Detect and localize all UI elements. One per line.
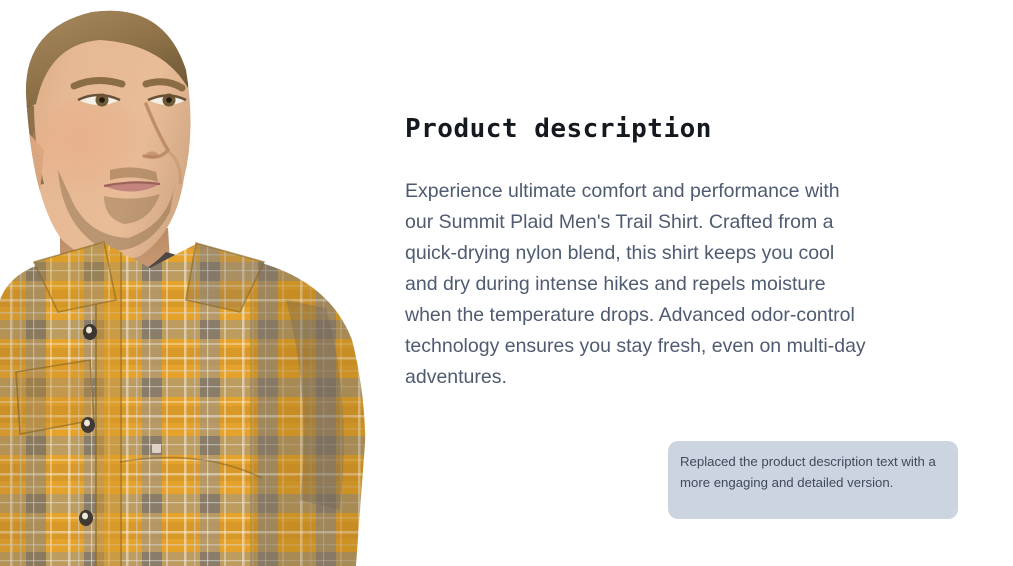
pocket-tag xyxy=(152,444,161,453)
product-description-text: Experience ultimate comfort and performa… xyxy=(405,176,871,393)
annotation-text: Replaced the product description text wi… xyxy=(680,452,942,493)
product-image xyxy=(0,0,382,566)
product-description-panel: Product description Experience ultimate … xyxy=(405,112,875,393)
page-title: Product description xyxy=(405,112,875,146)
annotation-callout: Replaced the product description text wi… xyxy=(668,441,958,519)
product-photo-illustration xyxy=(0,0,382,566)
